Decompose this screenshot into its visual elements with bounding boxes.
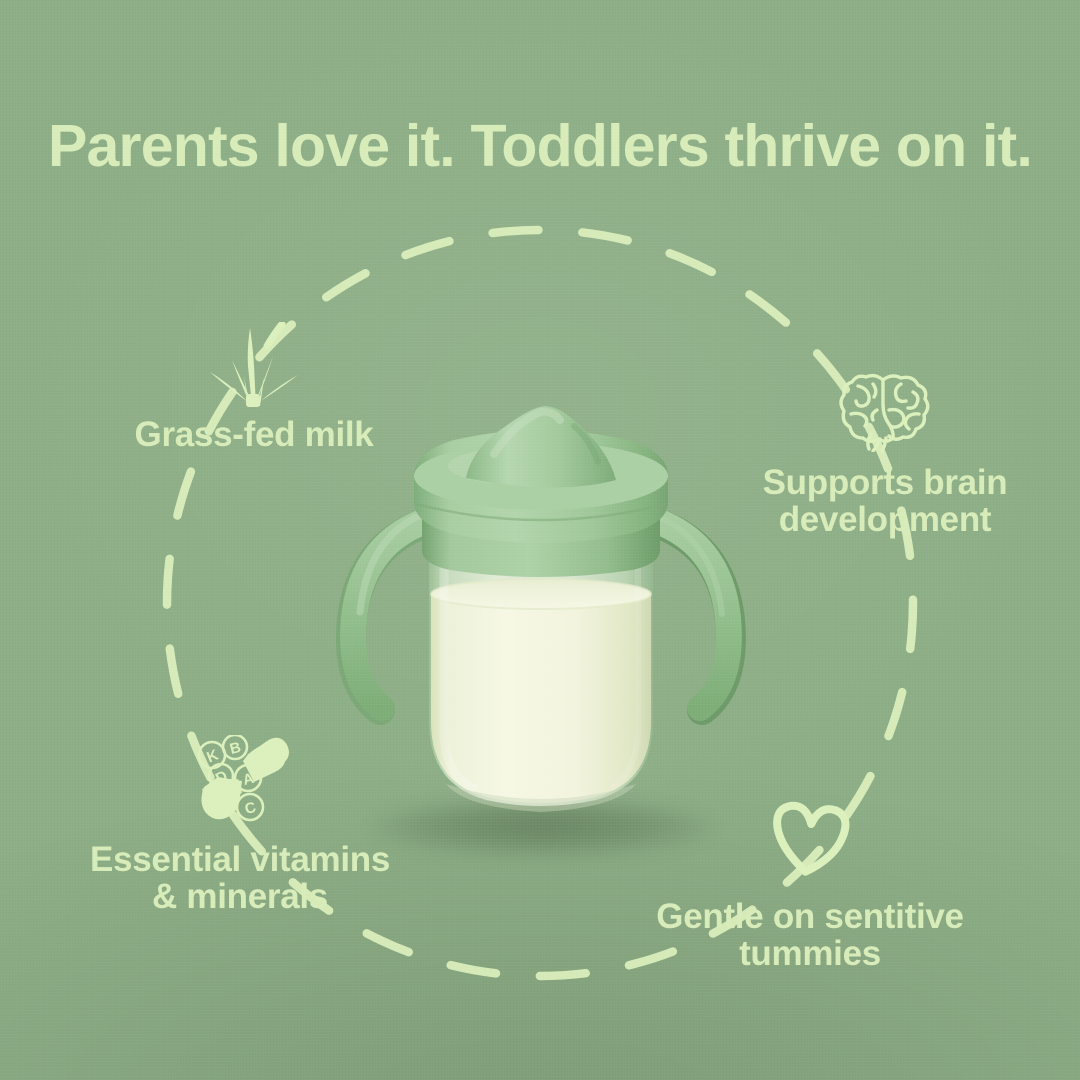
milk-fill	[431, 594, 651, 803]
brain-icon	[837, 370, 933, 452]
svg-text:C: C	[243, 799, 258, 818]
feature-label: Essential vitamins & minerals	[90, 841, 390, 915]
infographic-canvas: Parents love it. Toddlers thrive on it. …	[0, 0, 1080, 1080]
feature-brain-development: Supports brain development	[735, 370, 1035, 538]
heart-icon	[764, 800, 856, 880]
grass-icon	[204, 322, 304, 408]
page-title: Parents love it. Toddlers thrive on it.	[0, 116, 1080, 178]
cup-body	[429, 542, 653, 812]
feature-label: Gentle on sentitive tummies	[656, 898, 963, 972]
pill-capsule-icon: K B D A C	[188, 735, 292, 827]
cup-handle-right	[648, 514, 731, 710]
cup-handle-left	[351, 512, 434, 710]
cup-spout	[466, 406, 616, 488]
svg-text:B: B	[228, 739, 243, 758]
product-sippy-cup	[316, 392, 766, 842]
feature-label: Supports brain development	[763, 464, 1008, 538]
